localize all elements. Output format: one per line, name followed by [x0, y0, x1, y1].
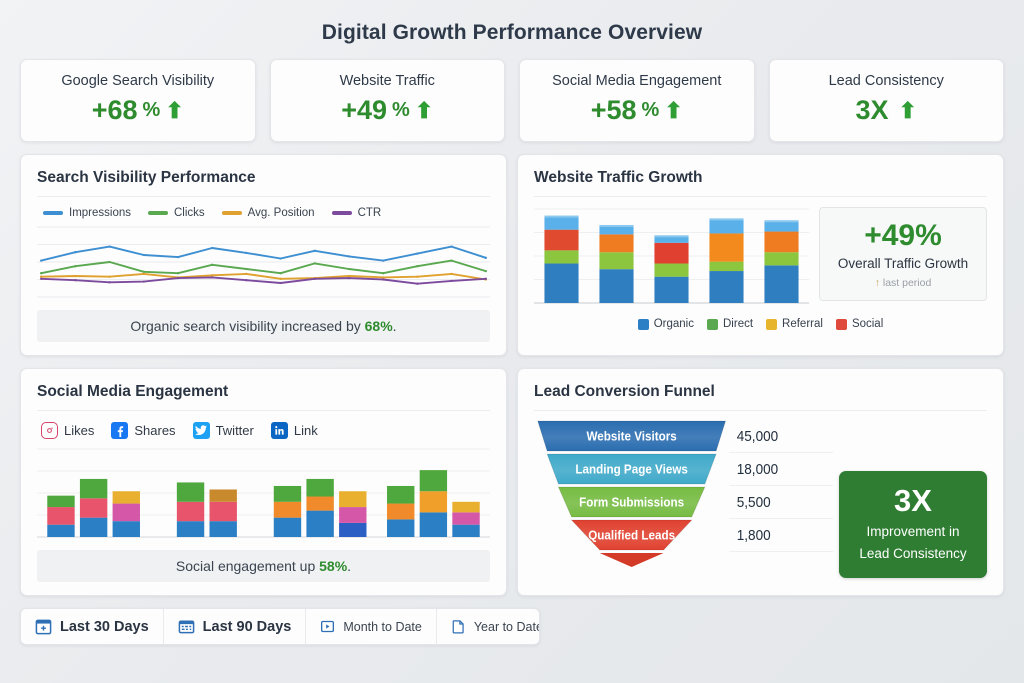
traffic-body: +49% Overall Traffic Growth ↑ last perio… — [534, 205, 987, 309]
twitter-icon — [193, 422, 210, 439]
kpi-label: Lead Consistency — [776, 73, 998, 89]
legend-item-shares[interactable]: Shares — [111, 422, 175, 439]
footer-highlight: 68% — [365, 318, 393, 334]
panel-lead-funnel: Lead Conversion Funnel Website Visitors4… — [517, 368, 1004, 596]
kpi-label: Website Traffic — [277, 73, 499, 89]
kpi-number: +49 — [341, 95, 387, 126]
kpi-card-lead-consistency[interactable]: Lead Consistency 3X ⬆ — [769, 59, 1005, 142]
panel-website-traffic: Website Traffic Growth +49% Overall Traf… — [517, 154, 1004, 356]
kpi-number: +58 — [591, 95, 637, 126]
traffic-chart-wrap — [534, 205, 809, 309]
panel-social-engagement: Social Media Engagement Likes Shares — [20, 368, 507, 596]
svg-text:18,000: 18,000 — [737, 461, 779, 478]
svg-text:Website Visitors: Website Visitors — [586, 429, 677, 443]
footer-suffix: . — [393, 318, 397, 334]
panel-row-top: Search Visibility Performance Impression… — [20, 154, 1004, 356]
funnel-body: Website Visitors45,000Landing Page Views… — [534, 419, 987, 578]
svg-text:Qualified Leads: Qualified Leads — [588, 528, 675, 542]
legend-swatch-icon — [707, 319, 718, 330]
dashboard-page: Digital Growth Performance Overview Goog… — [0, 0, 1024, 683]
legend-swatch-icon — [332, 211, 352, 214]
kpi-label: Social Media Engagement — [526, 73, 748, 89]
legend-swatch-icon — [836, 319, 847, 330]
linkedin-icon — [271, 422, 288, 439]
caret-up-icon: ↑ — [875, 277, 880, 289]
lead-consistency-badge: 3X Improvement in Lead Consistency — [839, 471, 987, 578]
toolbar-button-label: Year to Date — [474, 620, 540, 634]
legend-swatch-icon — [638, 319, 649, 330]
kpi-unit: % — [143, 99, 161, 122]
legend-item-referral[interactable]: Referral — [766, 318, 823, 330]
toolbar-button-last-30-days[interactable]: Last 30 Days — [21, 609, 164, 644]
calendar-page-icon — [451, 619, 466, 634]
calendar-icon — [35, 618, 52, 635]
legend-swatch-icon — [148, 211, 168, 214]
callout-sub-label: last period — [883, 277, 931, 289]
search-footer-note: Organic search visibility increased by 6… — [37, 310, 490, 342]
svg-text:1,800: 1,800 — [737, 527, 771, 544]
kpi-card-row: Google Search Visibility +68% ⬆ Website … — [20, 59, 1004, 142]
website-traffic-stacked-bar-chart[interactable] — [534, 205, 809, 309]
instagram-icon — [41, 422, 58, 439]
legend-label: Referral — [782, 318, 823, 330]
traffic-chart-legend: Organic Direct Referral Social — [534, 309, 987, 330]
kpi-card-google-search-visibility[interactable]: Google Search Visibility +68% ⬆ — [20, 59, 256, 142]
kpi-value: +68% ⬆ — [27, 95, 249, 126]
badge-line-2: Lead Consistency — [847, 545, 979, 563]
callout-subtext: ↑ last period — [826, 277, 980, 289]
panel-title: Social Media Engagement — [37, 383, 490, 411]
panel-title: Search Visibility Performance — [37, 169, 490, 197]
social-footer-note: Social engagement up 58%. — [37, 550, 490, 582]
calendar-play-icon — [320, 619, 335, 634]
footer-prefix: Social engagement up — [176, 558, 319, 574]
legend-label: Impressions — [69, 207, 131, 219]
kpi-value: +49% ⬆ — [277, 95, 499, 126]
facebook-icon — [111, 422, 128, 439]
kpi-value: 3X ⬆ — [776, 95, 998, 126]
legend-item-likes[interactable]: Likes — [41, 422, 94, 439]
kpi-card-social-media-engagement[interactable]: Social Media Engagement +58% ⬆ — [519, 59, 755, 142]
legend-label: Direct — [723, 318, 753, 330]
legend-item-social[interactable]: Social — [836, 318, 883, 330]
legend-label: Organic — [654, 318, 694, 330]
funnel-chart-wrap: Website Visitors45,000Landing Page Views… — [534, 419, 833, 567]
toolbar-button-year-to-date[interactable]: Year to Date — [437, 609, 540, 644]
kpi-value: +58% ⬆ — [526, 95, 748, 126]
legend-item-impressions[interactable]: Impressions — [43, 207, 131, 219]
toolbar-button-label: Month to Date — [343, 620, 422, 634]
kpi-number: 3X — [856, 95, 889, 126]
svg-text:Form Submissions: Form Submissions — [579, 495, 684, 509]
footer-highlight: 58% — [319, 558, 347, 574]
legend-swatch-icon — [222, 211, 242, 214]
legend-item-avg-position[interactable]: Avg. Position — [222, 207, 315, 219]
toolbar-button-label: Last 30 Days — [60, 619, 149, 635]
callout-label: Overall Traffic Growth — [826, 256, 980, 271]
kpi-number: +68 — [92, 95, 138, 126]
social-engagement-bar-chart[interactable] — [37, 445, 490, 541]
legend-item-organic[interactable]: Organic — [638, 318, 694, 330]
svg-text:45,000: 45,000 — [737, 428, 779, 445]
toolbar-button-last-90-days[interactable]: Last 90 Days — [164, 609, 307, 644]
legend-label: Link — [294, 423, 318, 438]
kpi-label: Google Search Visibility — [27, 73, 249, 89]
legend-item-ctr[interactable]: CTR — [332, 207, 382, 219]
panel-row-bottom: Social Media Engagement Likes Shares — [20, 368, 1004, 596]
line-chart-legend: Impressions Clicks Avg. Position CTR — [37, 205, 490, 223]
legend-swatch-icon — [43, 211, 63, 214]
calendar-range-icon — [178, 618, 195, 635]
legend-item-direct[interactable]: Direct — [707, 318, 753, 330]
panel-title: Website Traffic Growth — [534, 169, 987, 197]
date-range-toolbar: Last 30 Days Last 90 Days Month to Date … — [20, 608, 540, 645]
legend-label: Clicks — [174, 207, 205, 219]
kpi-card-website-traffic[interactable]: Website Traffic +49% ⬆ — [270, 59, 506, 142]
legend-label: Social — [852, 318, 883, 330]
legend-swatch-icon — [766, 319, 777, 330]
traffic-growth-callout: +49% Overall Traffic Growth ↑ last perio… — [819, 207, 987, 301]
kpi-unit: % — [642, 99, 660, 122]
arrow-up-icon: ⬆ — [165, 100, 183, 122]
legend-label: Avg. Position — [248, 207, 315, 219]
legend-label: CTR — [358, 207, 382, 219]
social-legend: Likes Shares Twitter — [37, 419, 490, 445]
legend-label: Shares — [134, 423, 175, 438]
badge-line-1: Improvement in — [847, 523, 979, 541]
toolbar-button-month-to-date[interactable]: Month to Date — [306, 609, 437, 644]
legend-label: Twitter — [216, 423, 254, 438]
kpi-unit: % — [392, 99, 410, 122]
arrow-up-icon: ⬆ — [664, 100, 682, 122]
footer-prefix: Organic search visibility increased by — [130, 318, 364, 334]
svg-text:5,500: 5,500 — [737, 494, 771, 511]
legend-item-link[interactable]: Link — [271, 422, 318, 439]
legend-item-twitter[interactable]: Twitter — [193, 422, 254, 439]
arrow-up-icon: ⬆ — [415, 100, 433, 122]
svg-text:Landing Page Views: Landing Page Views — [575, 462, 688, 476]
footer-suffix: . — [347, 558, 351, 574]
search-visibility-line-chart[interactable] — [37, 223, 490, 301]
legend-item-clicks[interactable]: Clicks — [148, 207, 205, 219]
panel-search-visibility: Search Visibility Performance Impression… — [20, 154, 507, 356]
panel-title: Lead Conversion Funnel — [534, 383, 987, 411]
legend-label: Likes — [64, 423, 94, 438]
lead-conversion-funnel-chart[interactable]: Website Visitors45,000Landing Page Views… — [534, 419, 833, 567]
page-title: Digital Growth Performance Overview — [20, 0, 1004, 59]
arrow-up-icon: ⬆ — [899, 100, 917, 122]
callout-value: +49% — [826, 220, 980, 252]
badge-value: 3X — [847, 485, 979, 518]
toolbar-button-label: Last 90 Days — [203, 619, 292, 635]
